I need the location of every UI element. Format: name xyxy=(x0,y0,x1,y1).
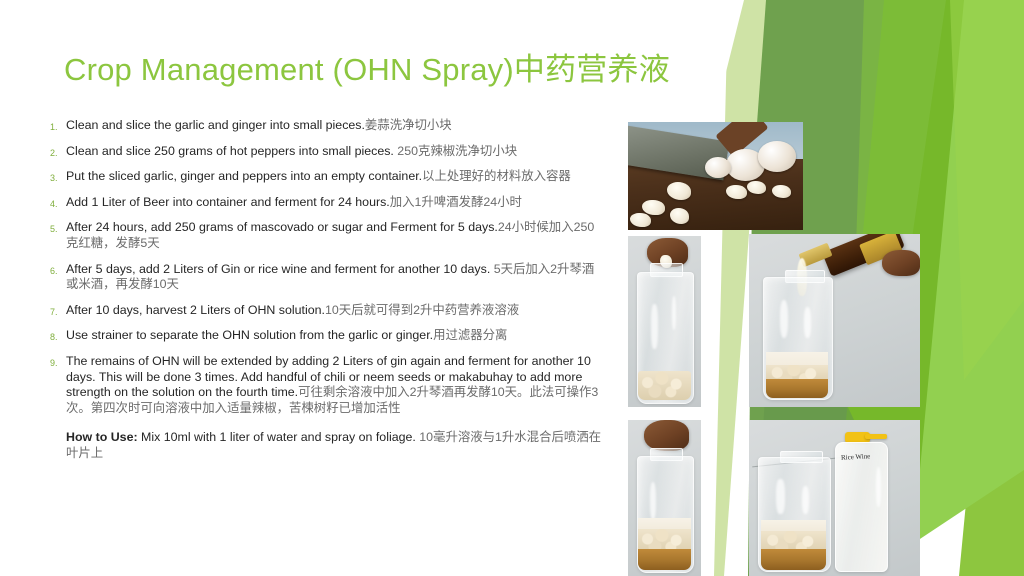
jar1-photo-content xyxy=(628,236,701,407)
list-item-text: Clean and slice the garlic and ginger in… xyxy=(66,118,365,132)
list-item: 7.After 10 days, harvest 2 Liters of OHN… xyxy=(50,303,606,319)
slide: Crop Management (OHN Spray)中药营养液 1.Clean… xyxy=(0,0,1024,576)
brown-liquid xyxy=(638,549,691,569)
jar2-photo-content xyxy=(749,234,920,407)
garlic-clove xyxy=(772,185,791,198)
list-item-text: After 24 hours, add 250 grams of mascova… xyxy=(66,220,498,234)
list-item-number: 4. xyxy=(50,197,58,213)
list-item-number: 8. xyxy=(50,330,58,346)
garlic-contents xyxy=(638,371,691,400)
list-item-text-cn: 加入1升啤酒发酵24小时 xyxy=(390,195,522,209)
garlic-clove xyxy=(726,185,747,199)
list-item: 6.After 5 days, add 2 Liters of Gin or r… xyxy=(50,262,606,293)
rice-wine-label: Rice Wine xyxy=(841,452,871,462)
jar-fermenting-photo xyxy=(628,420,701,576)
jar-highlight xyxy=(780,300,789,338)
list-item: 9.The remains of OHN will be extended by… xyxy=(50,354,606,416)
list-item: 1.Clean and slice the garlic and ginger … xyxy=(50,118,606,134)
garlic-clove xyxy=(670,208,689,223)
jar-highlight xyxy=(672,296,676,330)
list-item-text: After 10 days, harvest 2 Liters of OHN s… xyxy=(66,303,325,317)
list-item-text: After 5 days, add 2 Liters of Gin or ric… xyxy=(66,262,494,276)
hand xyxy=(882,250,920,276)
list-item-text: Add 1 Liter of Beer into container and f… xyxy=(66,195,390,209)
garlic-clove xyxy=(642,200,665,215)
list-item: 2.Clean and slice 250 grams of hot peppe… xyxy=(50,144,606,160)
jar-highlight xyxy=(776,479,785,513)
instruction-list: 1.Clean and slice the garlic and ginger … xyxy=(50,118,606,462)
list-item-text: Clean and slice 250 grams of hot peppers… xyxy=(66,144,397,158)
jar-and-rice-wine-photo: Rice Wine xyxy=(749,420,920,576)
list-item-text-cn: 以上处理好的材料放入容器 xyxy=(422,169,571,183)
list-item: 5.After 24 hours, add 250 grams of masco… xyxy=(50,220,606,251)
garlic-clove xyxy=(630,213,651,227)
list-item-text-cn: 用过滤器分离 xyxy=(433,328,507,342)
list-item: 4.Add 1 Liter of Beer into container and… xyxy=(50,195,606,211)
list-item-text-cn: 姜蒜洗净切小块 xyxy=(365,118,452,132)
jar-highlight xyxy=(651,304,658,348)
list-item-number: 3. xyxy=(50,171,58,187)
page-title: Crop Management (OHN Spray)中药营养液 xyxy=(64,52,764,88)
jar4-photo-content: Rice Wine xyxy=(749,420,920,576)
list-item-text: Put the sliced garlic, ginger and pepper… xyxy=(66,169,422,183)
jar3-photo-content xyxy=(628,420,701,576)
list-item-text-cn: 10天后就可得到2升中药营养液溶液 xyxy=(325,303,519,317)
brown-liquid xyxy=(766,379,828,398)
jar-pouring-beer-photo xyxy=(749,234,920,407)
brown-liquid xyxy=(761,549,826,569)
list-item-number: 6. xyxy=(50,264,58,280)
garlic-chopping-photo xyxy=(628,122,803,230)
list-item: 3.Put the sliced garlic, ginger and pepp… xyxy=(50,169,606,185)
garlic-bulb xyxy=(758,141,797,171)
list-item-number: 7. xyxy=(50,305,58,321)
list-item-text-cn: 250克辣椒洗净切小块 xyxy=(397,144,517,158)
garlic-photo-content xyxy=(628,122,803,230)
list-item-number: 5. xyxy=(50,222,58,238)
hand xyxy=(644,420,689,451)
bottle-highlight xyxy=(876,467,881,508)
list-item-number: 9. xyxy=(50,356,58,372)
how-to-use-paragraph: How to Use: Mix 10ml with 1 liter of wat… xyxy=(50,430,606,461)
list-item-text: Use strainer to separate the OHN solutio… xyxy=(66,328,433,342)
jar-highlight xyxy=(804,307,811,338)
jar-highlight xyxy=(802,486,809,514)
jar-adding-garlic-photo xyxy=(628,236,701,407)
how-to-use-label: How to Use: xyxy=(66,430,138,444)
list-item: 8.Use strainer to separate the OHN solut… xyxy=(50,328,606,344)
list-item-number: 2. xyxy=(50,146,58,162)
list-item-number: 1. xyxy=(50,120,58,136)
bottle-cap-handle xyxy=(865,434,887,439)
how-to-use-text: Mix 10ml with 1 liter of water and spray… xyxy=(138,430,420,444)
